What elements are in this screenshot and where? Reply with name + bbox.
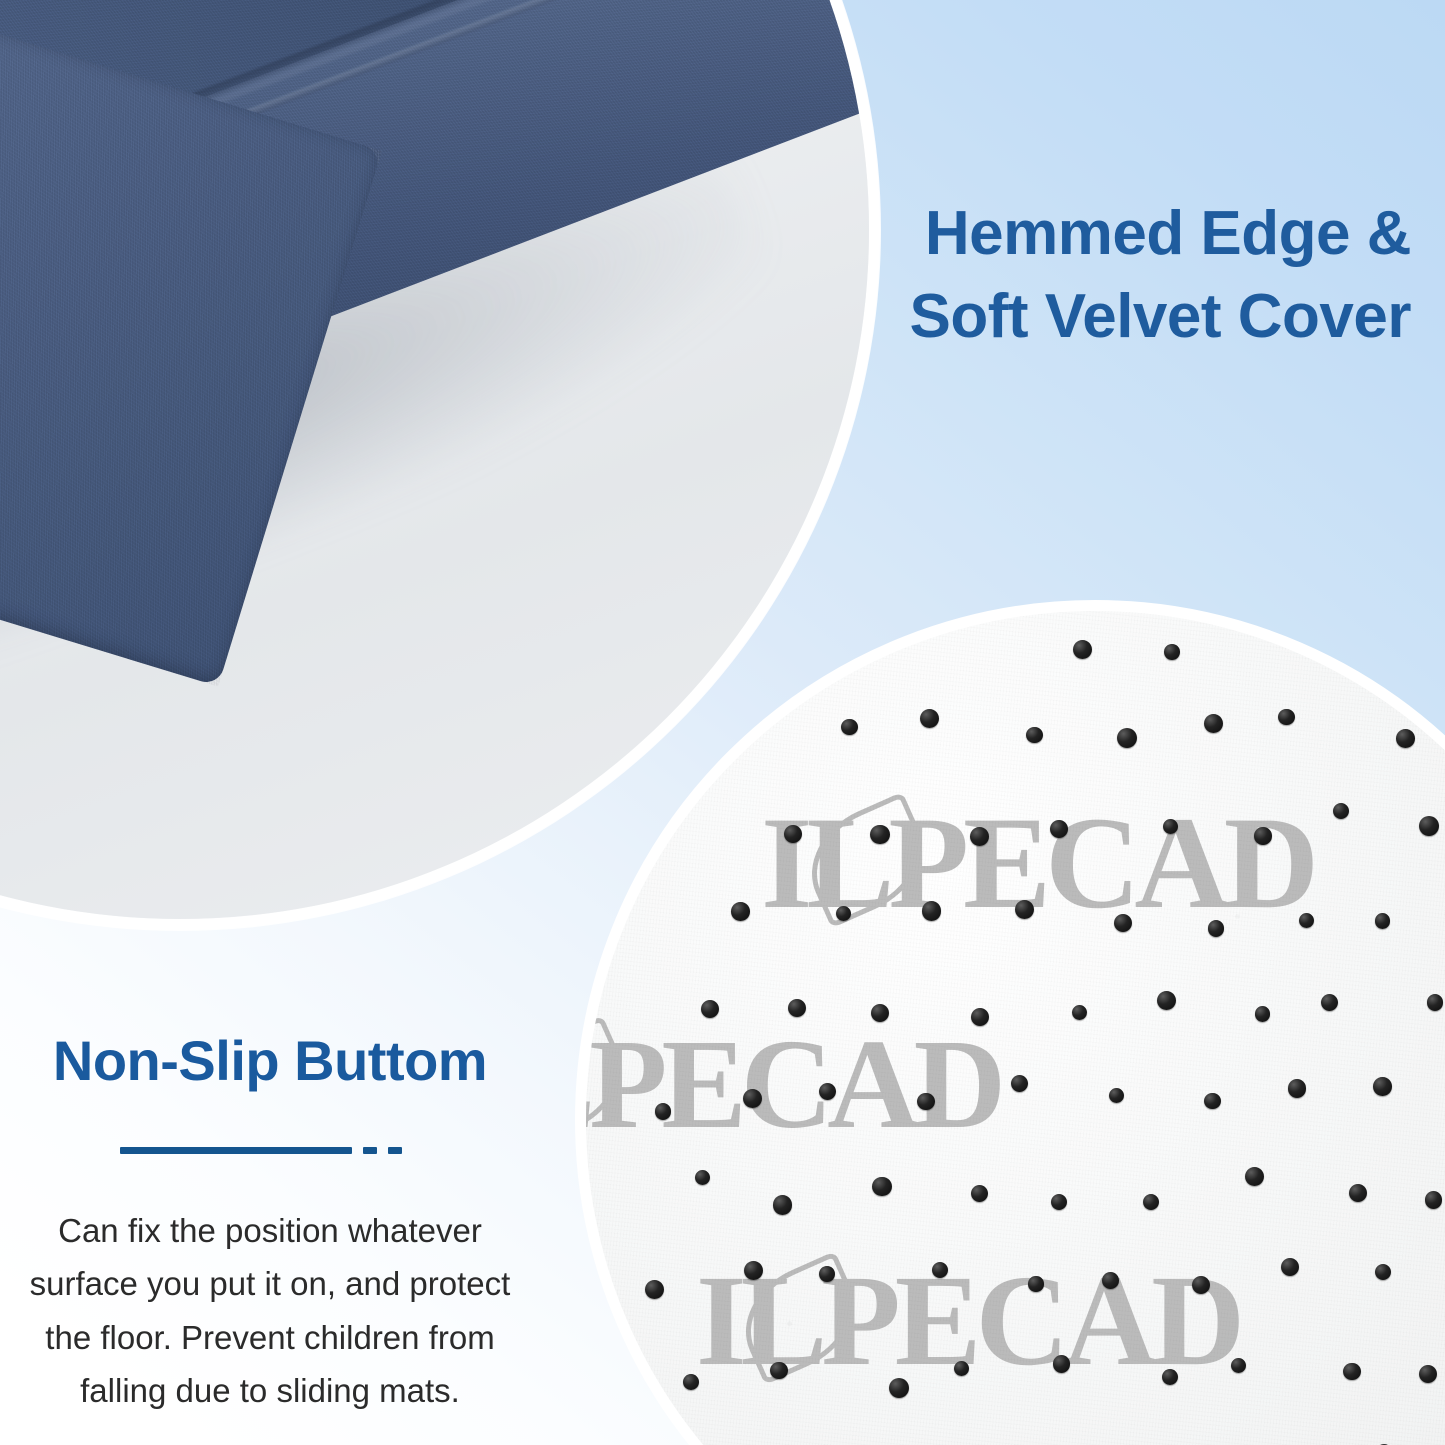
grip-dot: [920, 709, 939, 728]
grip-dot: [1208, 920, 1225, 937]
grip-dot: [922, 901, 942, 921]
headline: Hemmed Edge & Soft Velvet Cover: [910, 192, 1411, 358]
grip-dot: [1396, 729, 1415, 748]
grip-dot: [1192, 1276, 1210, 1294]
grip-dot: [1015, 900, 1034, 919]
grip-dot: [1102, 1272, 1119, 1289]
grip-dot: [1162, 1369, 1178, 1385]
grip-dot: [971, 1008, 989, 1026]
grip-dot: [701, 1000, 720, 1019]
feature-description: Can fix the position whatever surface yo…: [0, 1204, 540, 1418]
grip-dot: [1419, 816, 1439, 836]
grip-dot: [695, 1170, 710, 1185]
grip-dot: [932, 1262, 948, 1278]
grip-dot: [1114, 914, 1132, 932]
grip-dot: [1117, 728, 1137, 748]
grip-dot: [1109, 1088, 1124, 1103]
feature-block: Non-Slip Buttom Can fix the position wha…: [0, 1030, 540, 1417]
grip-dot: [1143, 1194, 1159, 1210]
mat-grip-dots: [586, 611, 1445, 1445]
grip-dot: [1373, 1077, 1392, 1096]
grip-dot: [645, 1280, 664, 1299]
grip-dot: [784, 825, 802, 843]
grip-dot: [1278, 709, 1294, 725]
divider-bar: [120, 1147, 352, 1154]
grip-dot: [889, 1378, 909, 1398]
grip-dot: [1050, 820, 1068, 838]
grip-dot: [1231, 1358, 1246, 1373]
grip-dot: [1073, 640, 1092, 659]
product-feature-infographic: ILPECAD ILPECAD ILPECAD Hemmed Edge & So…: [0, 0, 1445, 1445]
grip-dot: [1333, 803, 1349, 819]
grip-dot: [743, 1089, 762, 1108]
grip-dot: [770, 1362, 788, 1380]
mat-photo-panel: ILPECAD ILPECAD ILPECAD: [575, 600, 1445, 1445]
grip-dot: [1281, 1258, 1299, 1276]
grip-dot: [655, 1103, 672, 1120]
grip-dot: [1419, 1365, 1437, 1383]
grip-dot: [870, 825, 889, 844]
headline-line-2: Soft Velvet Cover: [910, 275, 1411, 358]
grip-dot: [836, 906, 851, 921]
grip-dot: [788, 999, 806, 1017]
grip-dot: [1051, 1194, 1068, 1211]
grip-dot: [954, 1361, 969, 1376]
grip-dot: [1425, 1191, 1443, 1209]
divider: [120, 1144, 420, 1156]
grip-dot: [1053, 1355, 1071, 1373]
grip-dot: [841, 719, 858, 736]
divider-dash-2: [388, 1147, 402, 1154]
grip-dot: [819, 1266, 835, 1282]
grip-dot: [1028, 1276, 1043, 1291]
grip-dot: [871, 1004, 889, 1022]
grip-dot: [1011, 1075, 1028, 1092]
grip-dot: [1288, 1079, 1307, 1098]
divider-dash-1: [363, 1147, 377, 1154]
grip-dot: [1072, 1005, 1087, 1020]
grip-dot: [917, 1093, 935, 1111]
grip-dot: [1255, 1006, 1270, 1021]
grip-dot: [1343, 1363, 1361, 1381]
grip-dot: [872, 1177, 892, 1197]
grip-dot: [1164, 644, 1180, 660]
grip-dot: [1026, 727, 1042, 743]
grip-dot: [1375, 1264, 1391, 1280]
grip-dot: [744, 1261, 763, 1280]
headline-line-1: Hemmed Edge &: [910, 192, 1411, 275]
feature-title: Non-Slip Buttom: [0, 1030, 540, 1092]
grip-dot: [1254, 827, 1272, 845]
grip-dot: [1157, 991, 1176, 1010]
grip-dot: [970, 827, 989, 846]
grip-dot: [1204, 1093, 1220, 1109]
grip-dot: [819, 1083, 836, 1100]
grip-dot: [683, 1374, 699, 1390]
grip-dot: [1427, 994, 1444, 1011]
grip-dot: [1163, 819, 1178, 834]
grip-dot: [1321, 994, 1338, 1011]
grip-dot: [731, 902, 750, 921]
grip-dot: [773, 1195, 792, 1214]
grip-dot: [1204, 714, 1223, 733]
grip-dot: [1375, 913, 1391, 929]
grip-dot: [971, 1185, 988, 1202]
grip-dot: [1245, 1167, 1264, 1186]
grip-dot: [1299, 913, 1314, 928]
grip-dot: [1349, 1184, 1367, 1202]
